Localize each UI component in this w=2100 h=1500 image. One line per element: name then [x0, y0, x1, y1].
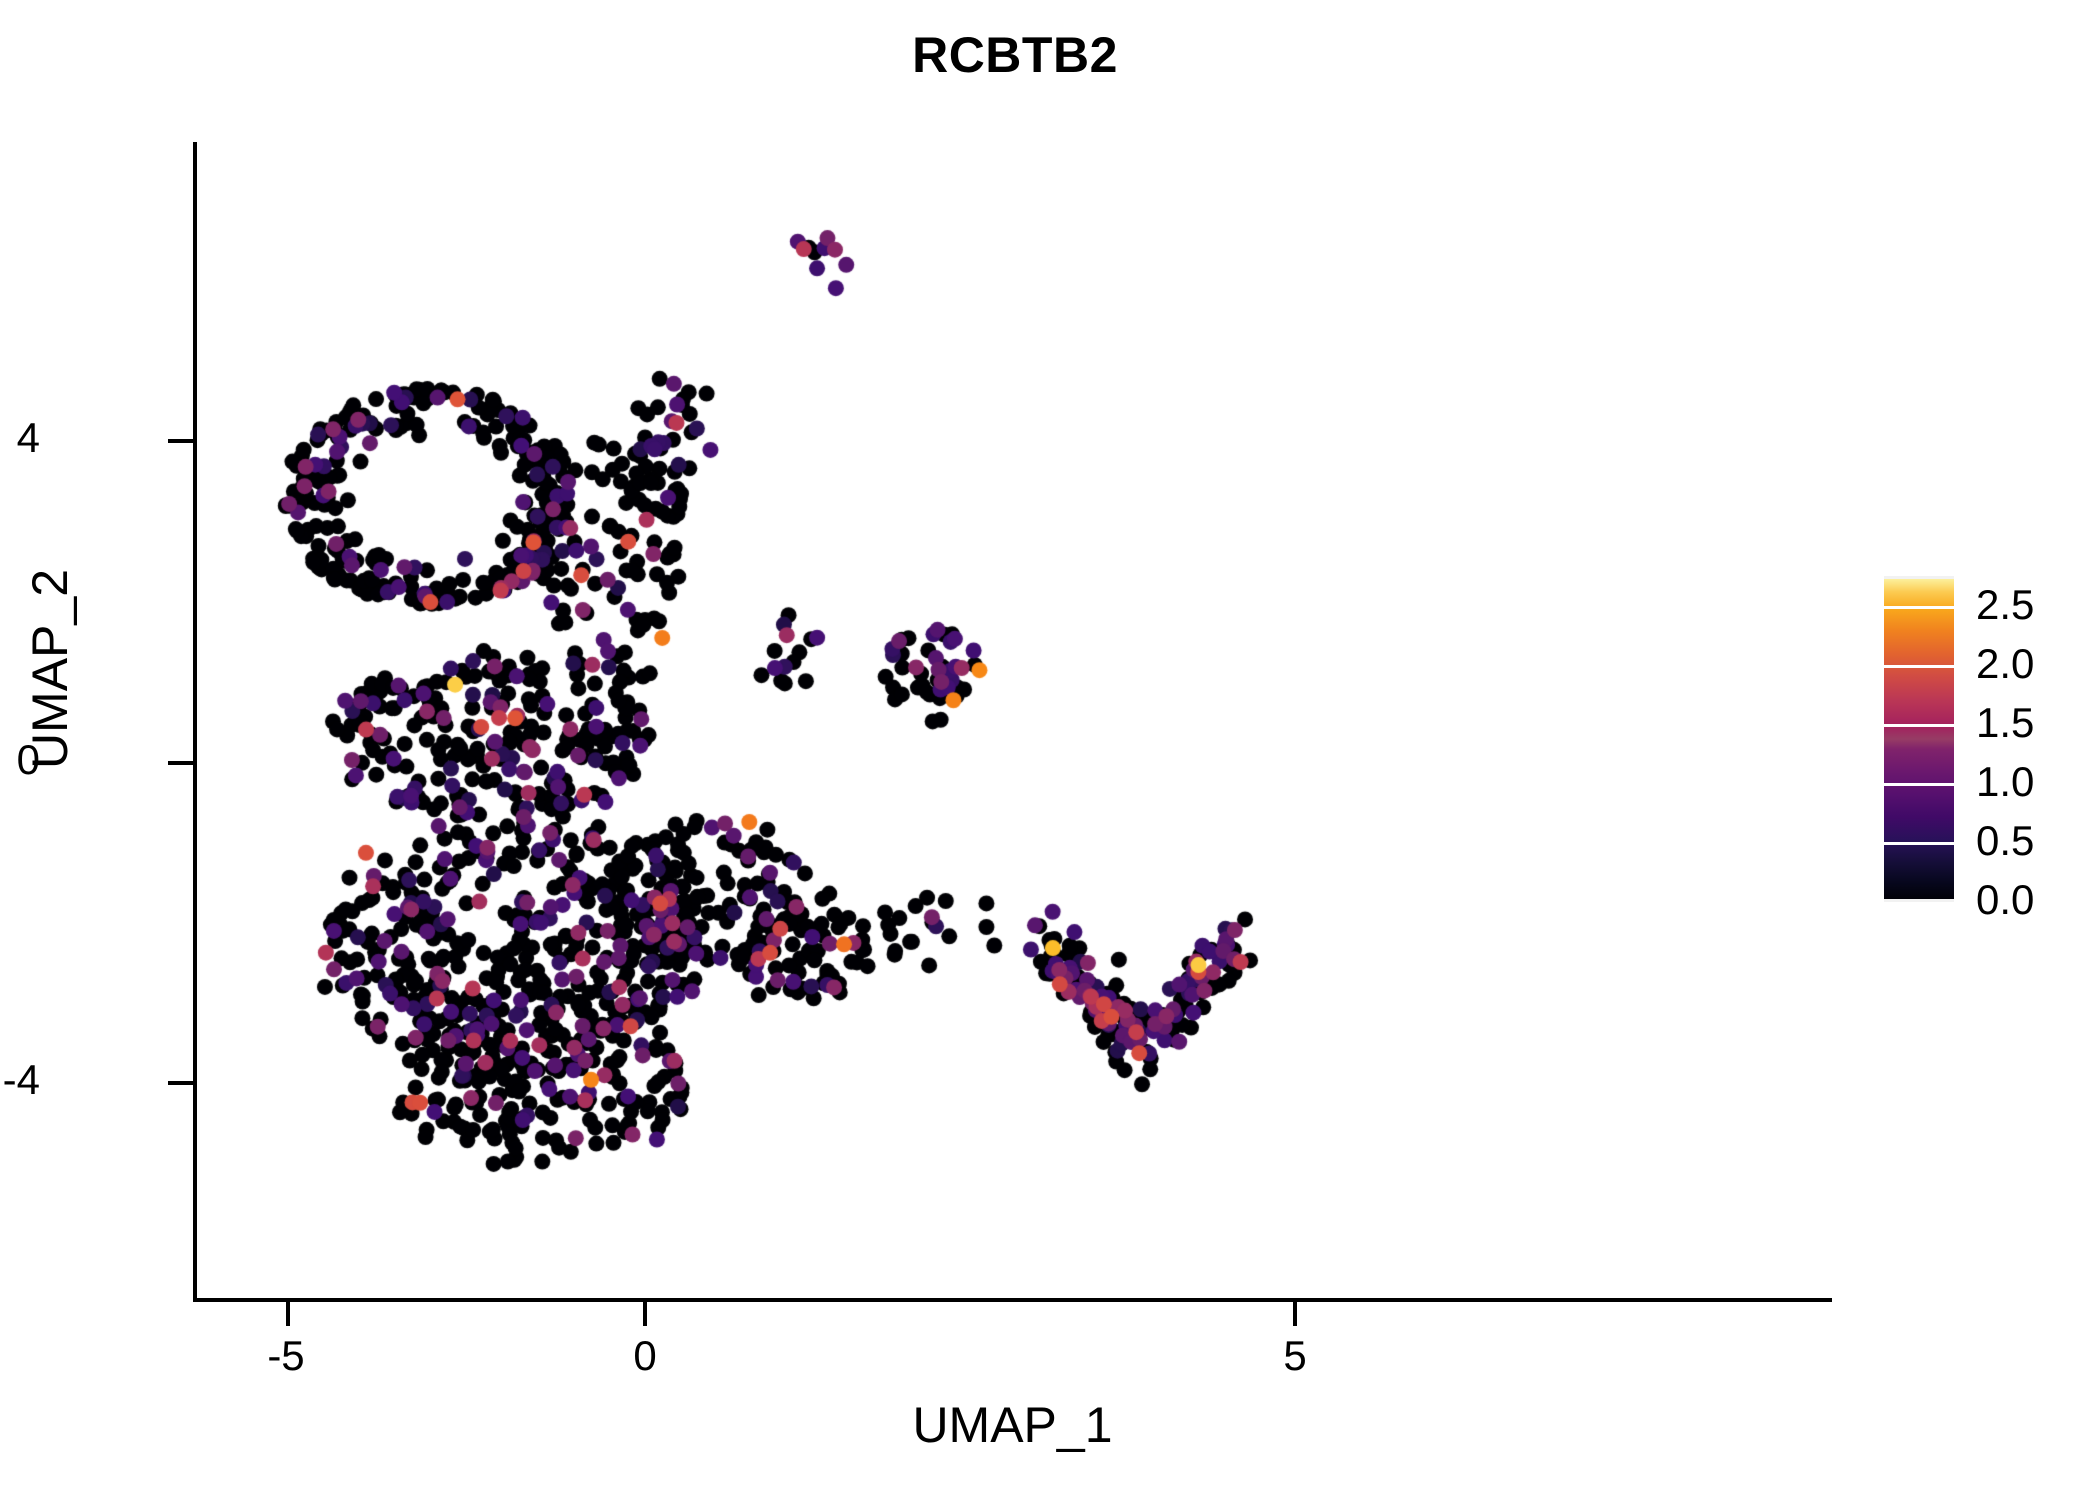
legend-label-0-5: 0.5	[1976, 817, 2034, 865]
x-axis-tick-0	[643, 1302, 647, 1326]
colorbar-tick-1-0	[1884, 783, 1954, 786]
x-axis-tick-neg5	[286, 1302, 290, 1326]
legend-label-1-0: 1.0	[1976, 758, 2034, 806]
y-axis-tick-neg4	[168, 1081, 194, 1085]
x-axis-tick-5	[1293, 1302, 1297, 1326]
y-axis-title: UMAP_2	[21, 479, 79, 859]
colorbar-tick-2-5	[1884, 606, 1954, 609]
x-axis-ticklabel-0: 0	[565, 1332, 725, 1380]
figure-root: RCBTB2 4 0 -4 -5 0 5 UMAP_2 UMAP_1 2.5	[0, 0, 2100, 1500]
x-axis-title: UMAP_1	[193, 1396, 1832, 1454]
x-axis-ticklabel-neg5: -5	[206, 1332, 366, 1380]
colorbar-tick-0-5	[1884, 842, 1954, 845]
scatter-plot-canvas	[0, 0, 2100, 1500]
y-axis-line	[193, 142, 197, 1302]
plot-panel: 4 0 -4 -5 0 5 UMAP_2 UMAP_1 2.5 2.0 1.5 …	[0, 0, 2100, 1500]
colorbar-tick-top	[1884, 576, 1954, 579]
x-axis-ticklabel-5: 5	[1215, 1332, 1375, 1380]
colorbar-tick-1-5	[1884, 724, 1954, 727]
colorbar-gradient	[1884, 576, 1954, 902]
y-axis-tick-4	[168, 439, 194, 443]
y-axis-ticklabel-neg4: -4	[3, 1056, 40, 1104]
y-axis-tick-0	[168, 761, 194, 765]
legend-label-1-5: 1.5	[1976, 699, 2034, 747]
colorbar-tick-bottom	[1884, 899, 1954, 902]
legend-label-2-5: 2.5	[1976, 581, 2034, 629]
colorbar-tick-2-0	[1884, 665, 1954, 668]
legend-label-2-0: 2.0	[1976, 640, 2034, 688]
y-axis-ticklabel-4: 4	[17, 414, 40, 462]
legend-label-0-0: 0.0	[1976, 876, 2034, 924]
x-axis-line	[193, 1298, 1832, 1302]
